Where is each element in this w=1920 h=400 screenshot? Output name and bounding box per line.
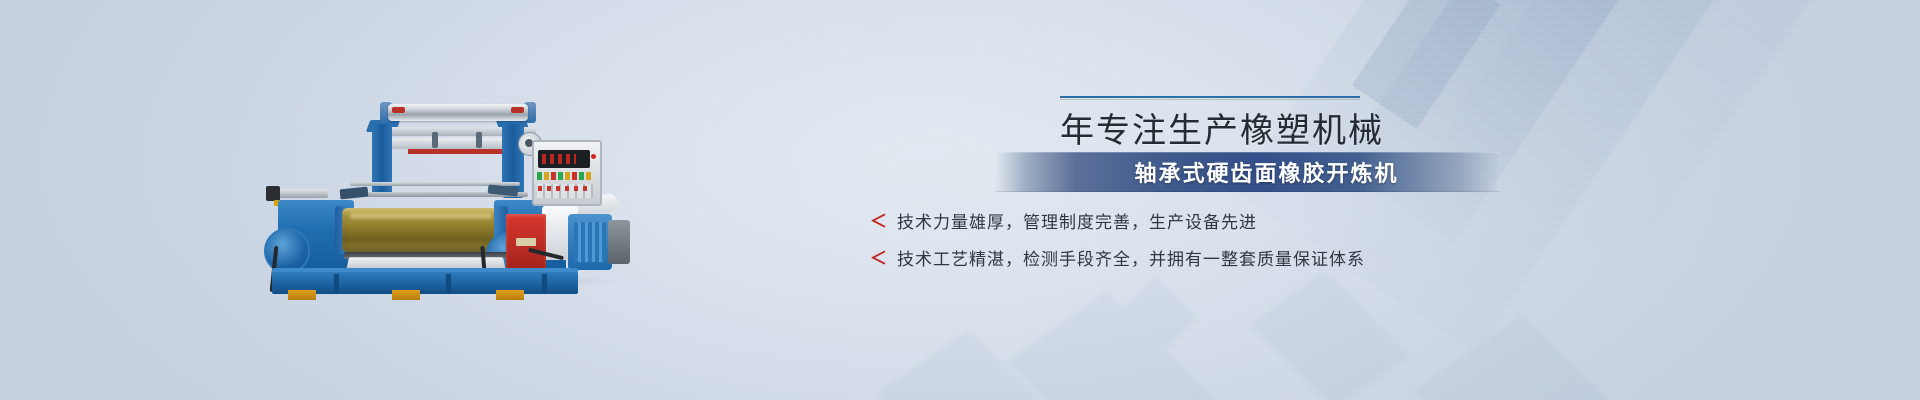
product-name-text: 轴承式硬齿面橡胶开炼机 bbox=[995, 152, 1500, 192]
machine-foot-1 bbox=[288, 290, 316, 300]
headline-divider-rule bbox=[1060, 96, 1360, 100]
headline-divider-grey-line bbox=[1060, 99, 1360, 100]
bullet-marker-icon: ＜ bbox=[870, 251, 887, 268]
machine-motor bbox=[608, 220, 630, 264]
watermark-shape-bottom-2 bbox=[1250, 271, 1410, 400]
list-item: ＜ 技术力量雄厚，管理制度完善，生产设备先进 bbox=[870, 214, 1650, 231]
machine-base-rib-2 bbox=[446, 274, 451, 294]
machine-panel-button-row-1 bbox=[537, 172, 593, 180]
machine-foot-3 bbox=[496, 290, 524, 300]
watermark-shape-bottom-1 bbox=[1006, 291, 1233, 400]
machine-panel-indicator-led bbox=[591, 154, 596, 159]
machine-base-rib-1 bbox=[334, 274, 339, 294]
machine-red-box-label bbox=[516, 238, 536, 246]
headline-divider-blue-line bbox=[1060, 96, 1360, 98]
feature-text-1: 技术力量雄厚，管理制度完善，生产设备先进 bbox=[897, 214, 1257, 231]
product-name-ribbon: 轴承式硬齿面橡胶开炼机 bbox=[995, 152, 1500, 192]
machine-base bbox=[272, 272, 578, 294]
machine-foot-2 bbox=[392, 290, 420, 300]
list-item: ＜ 技术工艺精湛，检测手段齐全，并拥有一整套质量保证体系 bbox=[870, 251, 1650, 268]
machine-top-red-bar bbox=[408, 149, 516, 154]
promo-banner: 年专注生产橡塑机械 轴承式硬齿面橡胶开炼机 ＜ 技术力量雄厚，管理制度完善，生产… bbox=[0, 0, 1920, 400]
machine-top-roller bbox=[388, 104, 528, 121]
machine-gold-roller-highlight bbox=[350, 213, 492, 219]
machine-arm-left bbox=[340, 187, 369, 200]
machine-top-red-left bbox=[392, 107, 405, 113]
banner-text-block: 年专注生产橡塑机械 轴承式硬齿面橡胶开炼机 ＜ 技术力量雄厚，管理制度完善，生产… bbox=[1060, 96, 1620, 153]
watermark-shape-bottom-5 bbox=[876, 330, 1074, 400]
machine-top-knob-right bbox=[476, 132, 482, 148]
machine-panel-button-row-3 bbox=[538, 186, 592, 191]
watermark-shape-bottom-3 bbox=[1414, 315, 1656, 400]
feature-text-2: 技术工艺精湛，检测手段齐全，并拥有一整套质量保证体系 bbox=[897, 251, 1365, 268]
machine-top-red-right bbox=[511, 107, 524, 113]
machine-side-block-left bbox=[266, 186, 280, 201]
machine-gearbox-fins bbox=[574, 222, 606, 262]
machine-top-knob-left bbox=[432, 132, 438, 148]
banner-headline: 年专注生产橡塑机械 bbox=[1060, 109, 1620, 153]
bullet-marker-icon: ＜ bbox=[870, 214, 887, 231]
product-photo-rubber-mixing-mill bbox=[280, 96, 630, 286]
machine-panel-digits bbox=[542, 154, 576, 164]
banner-feature-list: ＜ 技术力量雄厚，管理制度完善，生产设备先进 ＜ 技术工艺精湛，检测手段齐全，并… bbox=[870, 214, 1650, 288]
machine-base-rib-3 bbox=[542, 274, 547, 294]
